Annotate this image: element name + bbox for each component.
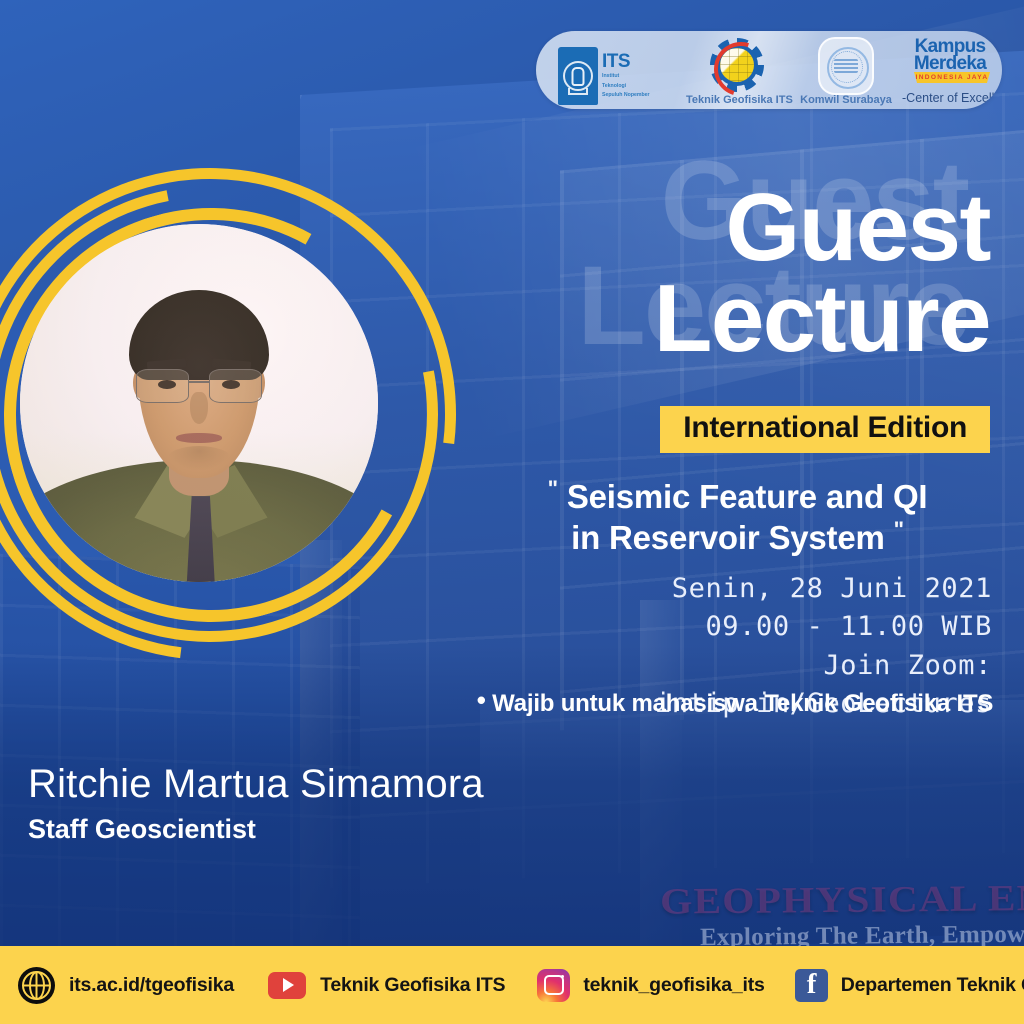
its-logo-text: ITS Institut Teknologi Sepuluh Nopember (602, 52, 650, 100)
its-acronym: ITS (602, 52, 650, 71)
schedule-date: Senin, 28 Juni 2021 (480, 570, 992, 608)
portrait-glasses-bridge (189, 381, 210, 383)
speaker-name: Ritchie Martua Simamora (28, 762, 484, 806)
footer-label-website: its.ac.id/tgeofisika (69, 974, 234, 997)
kampus-merdeka-ribbon-text: INDONESIA JAYA (916, 74, 989, 81)
komwil-logo-caption: Komwil Surabaya (792, 94, 900, 106)
komwil-seal-icon (818, 37, 874, 95)
kampus-merdeka-logo: Kampus Merdeka INDONESIA JAYA -Center of… (902, 31, 1002, 109)
attendance-note-text: Wajib untuk mahasiswa Teknik Geofisika I… (492, 690, 993, 717)
geofisika-logo: Teknik Geofisika ITS (686, 31, 790, 109)
kampus-merdeka-line2: Merdeka (902, 55, 998, 72)
footer-label-youtube: Teknik Geofisika ITS (320, 974, 505, 997)
avatar (20, 224, 378, 582)
facebook-icon (795, 969, 828, 1002)
page-title: Guest Lecture Guest Lecture (520, 182, 990, 364)
attendance-note: • Wajib untuk mahasiswa Teknik Geofisika… (470, 685, 1000, 718)
footer-item-website[interactable]: its.ac.id/tgeofisika (18, 967, 234, 1004)
quote-open: " (548, 476, 558, 501)
footer-label-instagram: teknik_geofisika_its (583, 974, 764, 997)
bullet-icon: • (477, 685, 486, 715)
footer-label-facebook: Departemen Teknik Geofisika ITS (841, 974, 1024, 997)
talk-title-line1: Seismic Feature and QI (567, 478, 928, 515)
gear-globe-icon (710, 38, 764, 92)
footer-item-facebook[interactable]: Departemen Teknik Geofisika ITS (795, 969, 1024, 1002)
partner-logo-bar: ITS Institut Teknologi Sepuluh Nopember … (536, 31, 1002, 109)
komwil-seal-ring (831, 51, 863, 83)
its-name-line2: Teknologi (602, 83, 650, 91)
portrait-eye-left (158, 380, 176, 389)
portrait-chin (167, 446, 231, 471)
its-shield-icon (558, 47, 598, 105)
geofisika-logo-caption: Teknik Geofisika ITS (686, 94, 790, 106)
status-badge: International Edition (660, 406, 990, 453)
headline-line1: Guest (520, 182, 990, 273)
center-of-excellence-tagline: -Center of Excellence- (902, 91, 1002, 105)
talk-title: " Seismic Feature and QI in Reservoir Sy… (480, 476, 995, 559)
footer-bar: its.ac.id/tgeofisika Teknik Geofisika IT… (0, 946, 1024, 1024)
talk-title-line2: in Reservoir System (571, 519, 885, 556)
youtube-icon (268, 972, 306, 999)
speaker-role: Staff Geoscientist (28, 814, 484, 845)
its-emblem-icon (563, 61, 593, 91)
footer-item-instagram[interactable]: teknik_geofisika_its (537, 969, 764, 1002)
instagram-icon (537, 969, 570, 1002)
footer-item-youtube[interactable]: Teknik Geofisika ITS (268, 972, 505, 999)
kampus-merdeka-ribbon: INDONESIA JAYA (914, 72, 990, 83)
kampus-merdeka-wordmark: Kampus Merdeka (902, 38, 998, 73)
guest-lecture-poster: GEOPHYSICAL ENGINEER Exploring The Earth… (0, 0, 1024, 1024)
speaker-photo-frame (0, 168, 444, 664)
quote-close: " (894, 517, 904, 542)
building-sign-main: GEOPHYSICAL ENGINEER (660, 875, 1024, 923)
its-name-line1: Institut (602, 73, 650, 81)
its-name-line3: Sepuluh Nopember (602, 92, 650, 100)
its-logo: ITS Institut Teknologi Sepuluh Nopember (558, 31, 674, 109)
edition-badge-wrap: International Edition (520, 406, 990, 453)
komwil-logo: Komwil Surabaya (792, 31, 900, 109)
portrait-eye-right (222, 380, 240, 389)
globe-icon (18, 967, 55, 1004)
schedule-time: 09.00 - 11.00 WIB (480, 608, 992, 646)
headline-line2: Lecture (520, 273, 990, 364)
speaker-info: Ritchie Martua Simamora Staff Geoscienti… (28, 762, 484, 845)
